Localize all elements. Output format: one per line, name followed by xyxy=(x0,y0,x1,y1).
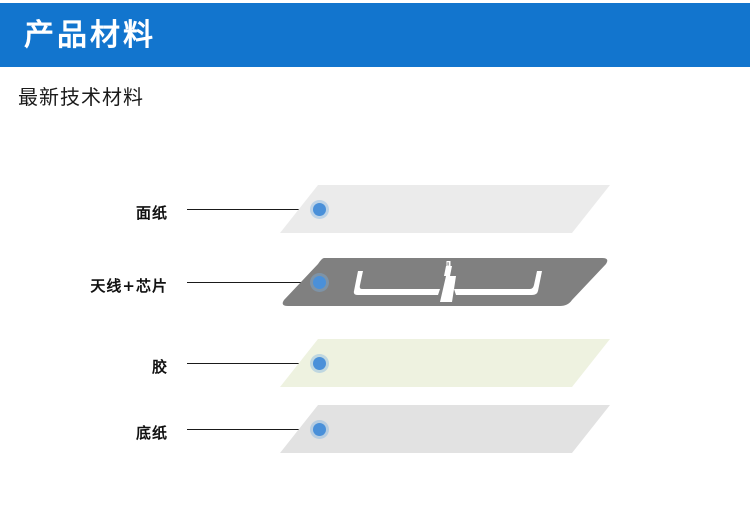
slab-shape-adhesive xyxy=(280,339,610,387)
layer-row: 天线+芯片 xyxy=(0,258,750,318)
layer-slab-antenna-chip xyxy=(280,258,610,306)
layer-marker-dot-face-paper xyxy=(313,203,326,216)
layer-marker-dot-adhesive xyxy=(313,357,326,370)
layer-marker-dot-liner-paper xyxy=(313,423,326,436)
layer-marker-dot-antenna-chip xyxy=(313,276,326,289)
slab-shape-liner-paper xyxy=(280,405,610,453)
layer-row: 面纸 xyxy=(0,185,750,245)
layer-slab-face-paper xyxy=(280,185,610,233)
section-subtitle: 最新技术材料 xyxy=(18,84,144,110)
slab-shape-face-paper xyxy=(280,185,610,233)
layer-label-antenna-chip: 天线+芯片 xyxy=(0,275,168,296)
material-layers-diagram: 面纸 天线+芯片 xyxy=(0,130,750,490)
layer-row: 胶 xyxy=(0,339,750,399)
layer-label-liner-paper: 底纸 xyxy=(0,422,168,443)
layer-row: 底纸 xyxy=(0,405,750,465)
antenna-trace-pattern xyxy=(280,258,610,306)
layer-slab-adhesive xyxy=(280,339,610,387)
page-header-band: 产品材料 xyxy=(0,3,750,67)
layer-slab-liner-paper xyxy=(280,405,610,453)
layer-label-face-paper: 面纸 xyxy=(0,202,168,223)
layer-label-adhesive: 胶 xyxy=(0,356,168,377)
page-title: 产品材料 xyxy=(24,17,156,55)
